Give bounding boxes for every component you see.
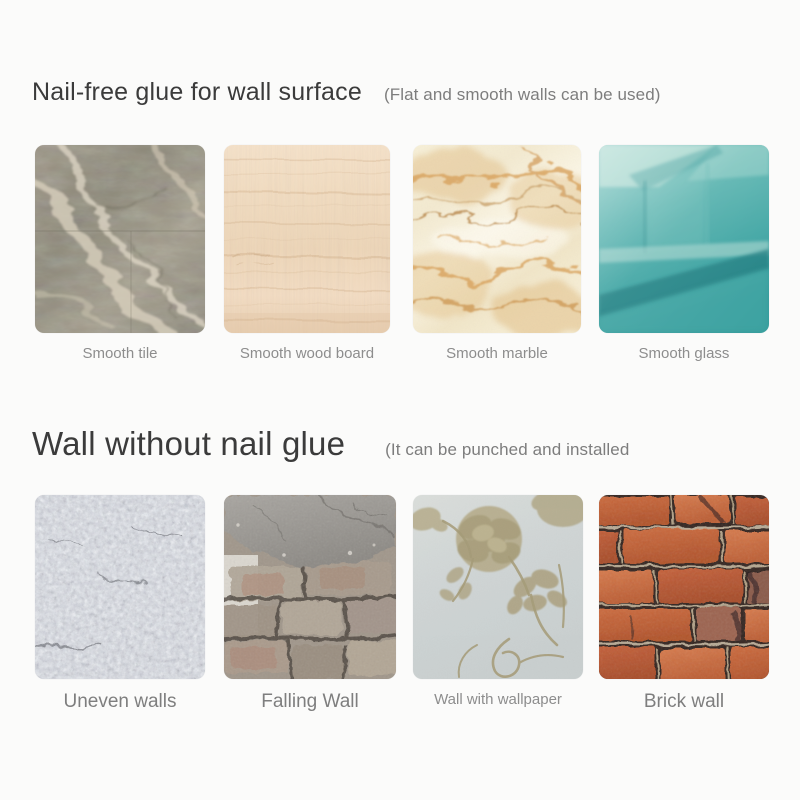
surface-card-smooth-glass[interactable]: Smooth glass [599,145,769,333]
surface-card-smooth-wood-board[interactable]: Smooth wood board [224,145,390,333]
smooth-glass-image [599,145,769,333]
surface-card-uneven-walls[interactable]: Uneven walls [35,495,205,679]
smooth-tile-image [35,145,205,333]
surface-label-brick-wall: Brick wall [599,691,769,713]
surface-card-wall-with-wallpaper[interactable]: Wall with wallpaper [413,495,583,679]
smooth-wood-board-image [224,145,390,333]
surface-label-smooth-wood-board: Smooth wood board [224,345,390,362]
surface-label-wall-with-wallpaper: Wall with wallpaper [413,691,583,708]
surface-card-brick-wall[interactable]: Brick wall [599,495,769,679]
uneven-walls-image [35,495,205,679]
surface-card-smooth-marble[interactable]: Smooth marble [413,145,581,333]
smooth-marble-image [413,145,581,333]
surface-label-smooth-tile: Smooth tile [35,345,205,362]
section-note-unsuitable: (It can be punched and installed [385,440,629,460]
surface-card-smooth-tile[interactable]: Smooth tile [35,145,205,333]
section-note-suitable: (Flat and smooth walls can be used) [384,85,661,105]
section-header-unsuitable: Wall without nail glue (It can be punche… [32,425,629,463]
falling-wall-image [224,495,396,679]
surface-label-smooth-glass: Smooth glass [599,345,769,362]
section-title-suitable: Nail-free glue for wall surface [32,78,362,107]
surface-card-falling-wall[interactable]: Falling Wall [224,495,396,679]
section-title-unsuitable: Wall without nail glue [32,425,345,463]
wall-surface-guide-page: Nail-free glue for wall surface (Flat an… [0,0,800,800]
rough-stucco-texture [35,495,205,679]
red-brick-wall-texture [599,495,769,679]
section-header-suitable: Nail-free glue for wall surface (Flat an… [32,78,661,107]
floral-wallpaper-texture [413,495,583,679]
surface-label-falling-wall: Falling Wall [224,691,396,713]
crumbling-plaster-texture [224,495,396,679]
surface-label-uneven-walls: Uneven walls [35,691,205,713]
wall-with-wallpaper-image [413,495,583,679]
teal-glass-panel-texture [599,145,769,333]
gray-marble-tile-texture [35,145,205,333]
brick-wall-image [599,495,769,679]
cream-gold-marble-texture [413,145,581,333]
light-wood-board-texture [224,145,390,333]
surface-label-smooth-marble: Smooth marble [413,345,581,362]
